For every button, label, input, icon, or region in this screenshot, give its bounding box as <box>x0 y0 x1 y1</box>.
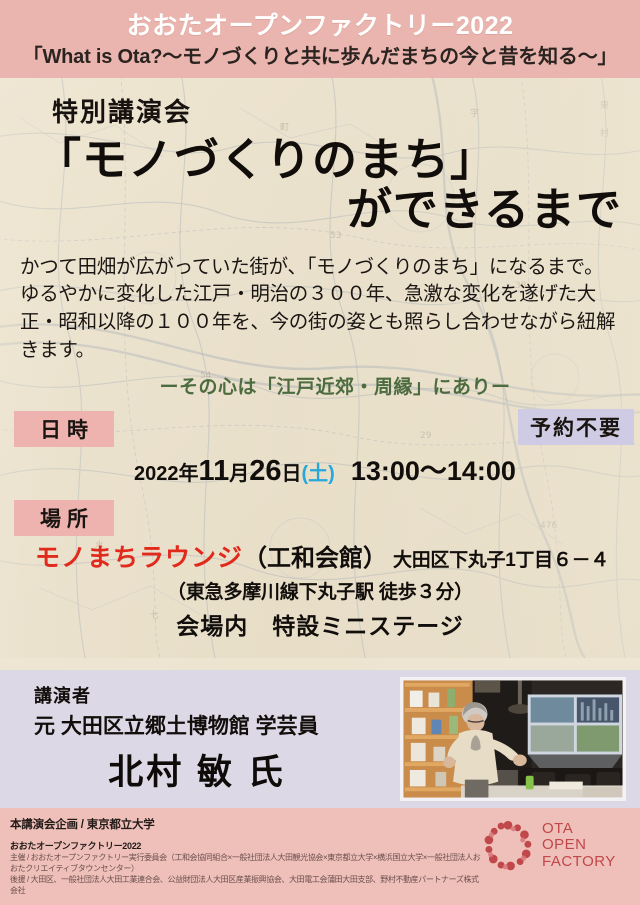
datetime-label: 日時 <box>14 411 114 447</box>
main-map-section: 東村 町字 水田 5354 3829 476七 特別講演会 「モノづくりのまち」… <box>0 78 640 670</box>
tagline: ーその心は「江戸近郊・周縁」にありー <box>44 372 626 399</box>
venue-name-alt: （工和会館） <box>243 545 387 572</box>
kicker-label: 特別講演会 <box>52 92 626 129</box>
event-poster: おおたオープンファクトリー2022 「What is Ota?〜モノづくりと共に… <box>0 0 640 905</box>
logo-wordmark: OTA OPEN FACTORY <box>542 821 616 871</box>
footer-support: 後援 / 大田区、一般社団法人大田工業連合会、公益財団法人大田区産業振興協会、大… <box>10 875 482 897</box>
logo-line-3: FACTORY <box>542 854 616 871</box>
lecture-photo-illustration <box>402 679 624 799</box>
datetime-day: 26 <box>249 455 281 487</box>
datetime-month: 11 <box>199 455 230 487</box>
speaker-name: 北村 敏 氏 <box>34 744 400 795</box>
logo-line-2: OPEN <box>542 837 616 854</box>
main-content: 特別講演会 「モノづくりのまち」 ができるまで かつて田畑が広がっていた街が、「… <box>0 92 640 642</box>
venue-access: （東急多摩川線下丸子駅 徒歩３分） <box>14 577 626 604</box>
datetime-weekday: (土) <box>301 463 334 485</box>
speaker-section: 講演者 元 大田区立郷土博物館 学芸員 北村 敏 氏 <box>0 670 640 808</box>
speaker-photo <box>400 677 626 801</box>
poster-header: おおたオープンファクトリー2022 「What is Ota?〜モノづくりと共に… <box>0 0 640 78</box>
venue-address: 大田区下丸子1丁目６－４ <box>393 550 609 571</box>
main-title-line1: 「モノづくりのまち」 <box>36 135 626 185</box>
datetime-value: 2022年11月26日(土)13:00〜14:00 <box>24 449 626 488</box>
speaker-label: 講演者 <box>34 682 400 708</box>
main-title-line2: ができるまで <box>14 185 622 235</box>
header-subtitle: 「What is Ota?〜モノづくりと共に歩んだまちの今と昔を知る〜」 <box>8 45 632 69</box>
no-reservation-badge: 予約不要 <box>518 409 634 445</box>
venue-name: モノまちラウンジ <box>35 544 243 572</box>
datetime-year: 2022年 <box>134 463 199 485</box>
footer-planning: 本講演会企画 / 東京都立大学 <box>10 816 482 832</box>
footer-organizer: 主催 / おおたオープンファクトリー実行委員会（工和会協同組合×一般社団法人大田… <box>10 853 482 875</box>
speaker-role: 元 大田区立郷土博物館 学芸員 <box>34 710 400 740</box>
datetime-label-row: 日時 予約不要 <box>14 411 626 441</box>
datetime-day-unit: 日 <box>281 463 301 485</box>
wreath-circle-icon <box>482 820 534 872</box>
poster-footer: 本講演会企画 / 東京都立大学 おおたオープンファクトリー2022 主催 / お… <box>0 808 640 905</box>
venue-label: 場所 <box>14 500 114 536</box>
logo-line-1: OTA <box>542 821 616 838</box>
venue-room: 会場内 特設ミニステージ <box>14 607 626 641</box>
footer-text-block: 本講演会企画 / 東京都立大学 おおたオープンファクトリー2022 主催 / お… <box>10 816 482 897</box>
venue-label-row: 場所 <box>14 500 626 530</box>
footer-program: おおたオープンファクトリー2022 <box>10 839 482 852</box>
venue-name-row: モノまちラウンジ（工和会館）大田区下丸子1丁目６－４ <box>18 538 626 574</box>
header-title: おおたオープンファクトリー2022 <box>8 12 632 41</box>
datetime-month-unit: 月 <box>229 463 249 485</box>
lead-paragraph: かつて田畑が広がっていた街が、「モノづくりのまち」になるまで。ゆるやかに変化した… <box>20 254 622 365</box>
ota-open-factory-logo: OTA OPEN FACTORY <box>482 816 632 872</box>
datetime-time: 13:00〜14:00 <box>351 456 516 486</box>
speaker-text: 講演者 元 大田区立郷土博物館 学芸員 北村 敏 氏 <box>0 682 400 795</box>
